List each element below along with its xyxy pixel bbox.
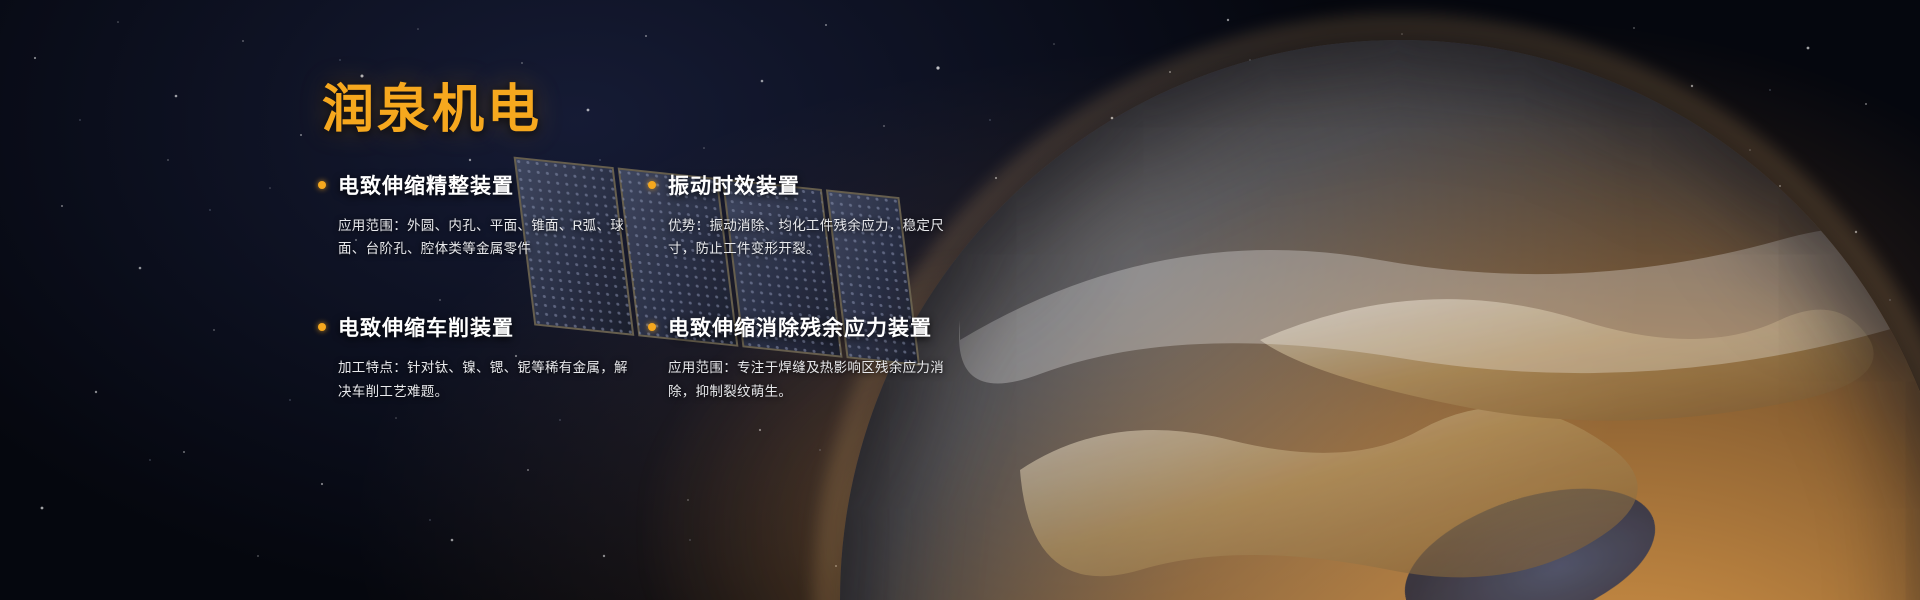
feature-title: 电致伸缩消除残余应力装置: [668, 312, 932, 342]
feature-title: 电致伸缩精整装置: [338, 170, 514, 200]
feature-header: 电致伸缩精整装置: [318, 170, 648, 200]
feature-description: 优势：振动消除、均化工件残余应力，稳定尺寸，防止工件变形开裂。: [668, 214, 968, 260]
feature-item[interactable]: 电致伸缩精整装置 应用范围：外圆、内孔、平面、锥面、R弧、球面、台阶孔、腔体类等…: [318, 170, 648, 260]
feature-item[interactable]: 振动时效装置 优势：振动消除、均化工件残余应力，稳定尺寸，防止工件变形开裂。: [648, 170, 978, 260]
dot-bullet-icon: [318, 323, 326, 331]
feature-header: 振动时效装置: [648, 170, 978, 200]
page-title: 润泉机电: [322, 82, 542, 139]
feature-description: 应用范围：外圆、内孔、平面、锥面、R弧、球面、台阶孔、腔体类等金属零件: [338, 214, 638, 260]
feature-description: 应用范围：专注于焊缝及热影响区残余应力消除，抑制裂纹萌生。: [668, 356, 968, 402]
dot-bullet-icon: [648, 323, 656, 331]
feature-header: 电致伸缩消除残余应力装置: [648, 312, 978, 342]
feature-header: 电致伸缩车削装置: [318, 312, 648, 342]
feature-title: 电致伸缩车削装置: [338, 312, 514, 342]
dot-bullet-icon: [318, 181, 326, 189]
feature-item[interactable]: 电致伸缩车削装置 加工特点：针对钛、镍、锶、铌等稀有金属，解决车削工艺难题。: [318, 312, 648, 402]
hero-banner: 润泉机电 电致伸缩精整装置 应用范围：外圆、内孔、平面、锥面、R弧、球面、台阶孔…: [0, 0, 1920, 600]
feature-list: 电致伸缩精整装置 应用范围：外圆、内孔、平面、锥面、R弧、球面、台阶孔、腔体类等…: [318, 170, 978, 403]
feature-item[interactable]: 电致伸缩消除残余应力装置 应用范围：专注于焊缝及热影响区残余应力消除，抑制裂纹萌…: [648, 312, 978, 402]
feature-description: 加工特点：针对钛、镍、锶、铌等稀有金属，解决车削工艺难题。: [338, 356, 638, 402]
feature-title: 振动时效装置: [668, 170, 800, 200]
banner-content: 润泉机电 电致伸缩精整装置 应用范围：外圆、内孔、平面、锥面、R弧、球面、台阶孔…: [0, 0, 1920, 600]
dot-bullet-icon: [648, 181, 656, 189]
